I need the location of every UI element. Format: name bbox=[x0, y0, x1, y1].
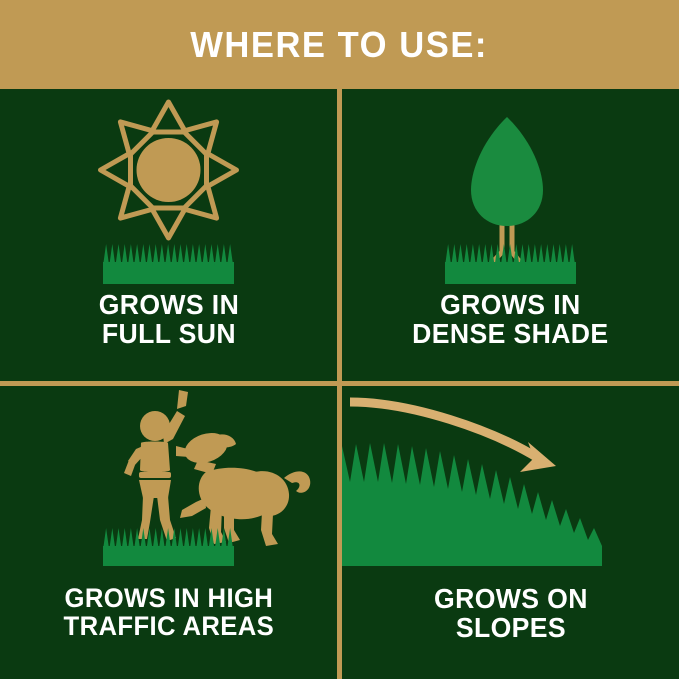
sloped-grass bbox=[342, 443, 602, 566]
panel-slopes: GROWS ONSLOPES bbox=[342, 386, 679, 679]
panel-slopes-art bbox=[342, 386, 679, 582]
grass-strip-icon bbox=[342, 92, 679, 288]
panel-dense-shade-caption: GROWS INDENSE SHADE bbox=[412, 290, 608, 348]
caption-line-1: GROWS IN HIGH bbox=[64, 583, 273, 613]
panel-slopes-caption: GROWS ONSLOPES bbox=[434, 584, 588, 642]
panel-full-sun-art bbox=[0, 92, 337, 288]
page-title: WHERE TO USE: bbox=[191, 27, 489, 63]
panel-full-sun-caption: GROWS INFULL SUN bbox=[98, 290, 238, 348]
panel-dense-shade-art bbox=[342, 92, 679, 288]
caption-line-2: DENSE SHADE bbox=[412, 318, 608, 349]
grass-strip-icon bbox=[0, 92, 337, 288]
panel-dense-shade: GROWS INDENSE SHADE bbox=[342, 92, 679, 385]
caption-line-2: TRAFFIC AREAS bbox=[63, 611, 274, 641]
caption-line-1: GROWS ON bbox=[434, 583, 588, 614]
panel-full-sun: GROWS INFULL SUN bbox=[0, 92, 337, 385]
caption-line-1: GROWS IN bbox=[98, 289, 238, 320]
caption-line-1: GROWS IN bbox=[440, 289, 580, 320]
grass-strip-icon bbox=[0, 386, 337, 582]
sloped-grass-with-arrow-icon bbox=[342, 386, 679, 582]
caption-line-2: FULL SUN bbox=[101, 318, 235, 349]
where-to-use-infographic: WHERE TO USE: bbox=[0, 0, 679, 679]
panel-high-traffic-art bbox=[0, 386, 337, 582]
header-band: WHERE TO USE: bbox=[0, 0, 679, 89]
caption-line-2: SLOPES bbox=[455, 612, 565, 643]
panel-high-traffic-caption: GROWS IN HIGHTRAFFIC AREAS bbox=[63, 584, 274, 640]
panel-high-traffic: GROWS IN HIGHTRAFFIC AREAS bbox=[0, 386, 337, 679]
